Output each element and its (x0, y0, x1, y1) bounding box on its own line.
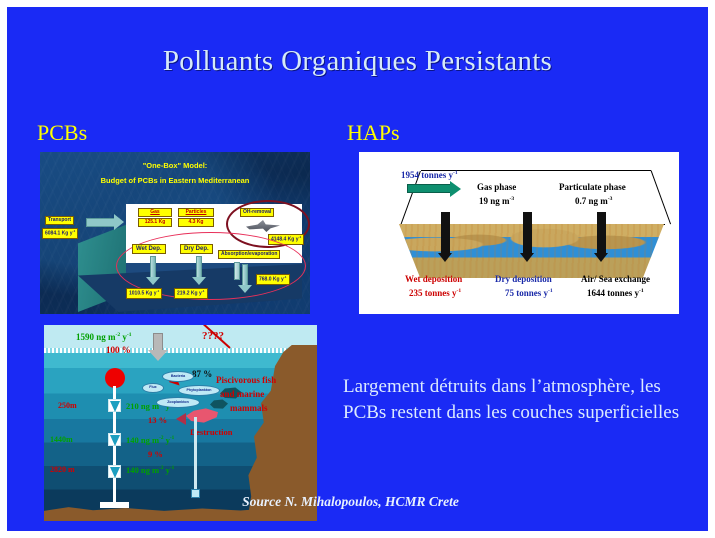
pcb-wet-dep-value: 1010.5 Kg y-1 (126, 288, 162, 299)
hap-dry-dep-label: Dry deposition (495, 274, 552, 285)
pcb-transport-arrow-head (114, 214, 124, 230)
page-title: Polluants Organiques Persistants (7, 45, 708, 78)
ocean-surface-flux-value: 1590 ng m-2 y-1 (76, 332, 132, 342)
ocean-depth-label-2: 1440m (50, 435, 73, 444)
source-attribution: Source N. Mihalopoulos, HCMR Crete (7, 494, 708, 510)
ocean-flux-value-2: 140 ng m-2 y-1 (126, 435, 174, 445)
pcb-dry-dep-value: 219.2 Kg y-1 (174, 288, 208, 299)
section-heading-pcbs: PCBs (37, 120, 87, 146)
slide-canvas: Polluants Organiques Persistants PCBs HA… (7, 7, 708, 531)
secondary-mooring-line (194, 417, 197, 491)
pcb-gas-label: Gas (138, 208, 172, 217)
ocean-flux-percent-1: 13 % (148, 415, 167, 425)
hap-wet-dep-label: Wet deposition (405, 274, 462, 285)
body-paragraph: Largement détruits dans l’atmosphère, le… (343, 374, 693, 425)
pcb-absorption-label: Absorption/evaporation (218, 250, 280, 259)
atmospheric-input-arrow (150, 333, 166, 359)
loop-ellipse-phytoplankton: Phytoplankton (178, 385, 220, 396)
pcb-transport-label: Transport (45, 216, 74, 225)
pcb-oh-removal-label: OH-removal (240, 208, 274, 217)
pcb-diagram-title-line2: Budget of PCBs in Eastern Mediterranean (40, 176, 310, 185)
pcb-dry-dep-label: Dry Dep. (180, 244, 213, 254)
hap-air-sea-pillar (597, 212, 606, 254)
ocean-surface-flux-percent: 100 % (106, 345, 131, 355)
pcb-gas-value: 125.1 Kg (138, 218, 172, 227)
hap-budget-diagram-image: 1954 tonnes y-1 Gas phase 19 ng m-3 Part… (359, 152, 679, 314)
ocean-depth-label-1: 250m (58, 401, 77, 410)
loop-ellipse-zooplankton: Zooplankton (156, 397, 200, 408)
destruction-fish-tail (176, 413, 186, 425)
hap-particulate-label: Particulate phase (559, 182, 626, 193)
ocean-depth-label-3: 2820 m (50, 465, 75, 474)
ocean-fish-label-line1: Piscivorous fish (216, 375, 276, 385)
ocean-fish-label-line2: and marine (220, 389, 264, 399)
hap-wet-dep-pillar (441, 212, 450, 254)
sediment-trap-2820m (108, 465, 121, 478)
pcb-wet-dep-label: Wet Dep. (132, 244, 166, 254)
sediment-trap-250m (108, 399, 121, 412)
section-heading-haps: HAPs (347, 120, 400, 146)
pcb-particles-value: 4.3 Kg (178, 218, 214, 227)
hap-inflow-arrow (407, 184, 451, 193)
ocean-flux-value-3: 140 ng m-2 y-1 (126, 465, 174, 475)
pcb-transport-arrow-shaft (86, 218, 116, 227)
ocean-fish-label-line3: mammals (230, 403, 268, 413)
hap-inflow-label: 1954 tonnes y-1 (401, 170, 458, 181)
pcb-absorption-arrow-down (238, 264, 252, 286)
hap-dry-dep-pillar (523, 212, 532, 254)
sediment-trap-1440m (108, 433, 121, 446)
pcb-particles-label: Particles (178, 208, 214, 217)
pcb-wet-dep-arrow (146, 256, 160, 278)
pcb-absorption-value: 768.0 Kg y-1 (256, 274, 290, 285)
hap-gas-phase-value: 19 ng m-3 (479, 196, 514, 207)
pcb-diagram-title-line1: "One-Box" Model: (40, 161, 310, 170)
ocean-flux-percent-2: 9 % (148, 449, 163, 459)
pcb-transport-value: 6084.1 Kg y-1 (42, 228, 78, 239)
loop-ellipse-flux: Flux (142, 383, 164, 393)
pcb-dry-dep-arrow (192, 256, 206, 278)
hap-box-right-riser (650, 170, 671, 224)
pcb-onebox-diagram-image: "One-Box" Model: Budget of PCBs in Easte… (40, 152, 310, 314)
hap-air-sea-label: Air/ Sea exchange (581, 274, 650, 285)
hap-dry-dep-value: 75 tonnes y-1 (505, 288, 553, 299)
surface-buoy-icon (105, 368, 125, 388)
ocean-remineralization-percent: 87 % (192, 369, 212, 379)
hap-air-sea-value: 1644 tonnes y-1 (587, 288, 644, 299)
hap-gas-phase-label: Gas phase (477, 182, 516, 193)
loop-ellipse-bacteria: Bacteria (162, 371, 194, 382)
hap-wet-dep-value: 235 tonnes y-1 (409, 288, 461, 299)
hap-particulate-value: 0.7 ng m-3 (575, 196, 612, 207)
ocean-flux-diagram-image: 1590 ng m-2 y-1 100 % ???? 87 % 250m 210… (44, 325, 317, 521)
